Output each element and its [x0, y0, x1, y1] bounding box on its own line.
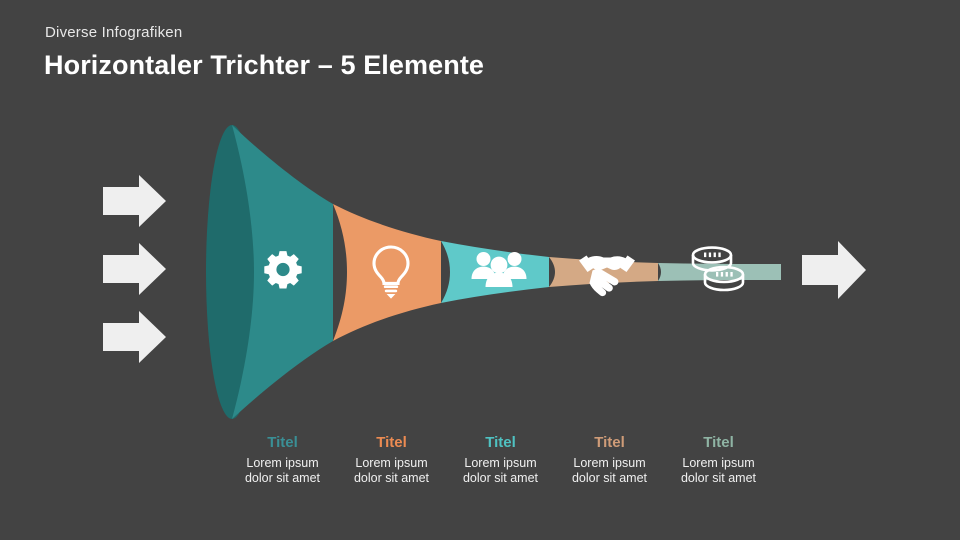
caption-line: dolor sit amet	[664, 471, 773, 486]
slide-canvas: Diverse Infografiken Horizontaler Tricht…	[0, 0, 960, 540]
output-arrow-group	[802, 241, 866, 299]
input-arrow-group	[103, 175, 166, 363]
caption-title: Titel	[446, 433, 555, 453]
caption-row: Titel Lorem ipsum dolor sit amet Titel L…	[228, 433, 773, 486]
caption-line: Lorem ipsum	[664, 456, 773, 471]
caption-item: Titel Lorem ipsum dolor sit amet	[228, 433, 337, 486]
caption-title: Titel	[555, 433, 664, 453]
input-arrow[interactable]	[103, 311, 166, 363]
gear-icon	[264, 251, 301, 288]
caption-line: Lorem ipsum	[555, 456, 664, 471]
caption-line: Lorem ipsum	[446, 456, 555, 471]
caption-line: Lorem ipsum	[337, 456, 446, 471]
caption-line: dolor sit amet	[555, 471, 664, 486]
caption-item: Titel Lorem ipsum dolor sit amet	[664, 433, 773, 486]
coins-icon	[693, 248, 743, 290]
caption-line: dolor sit amet	[446, 471, 555, 486]
caption-item: Titel Lorem ipsum dolor sit amet	[446, 433, 555, 486]
caption-item: Titel Lorem ipsum dolor sit amet	[337, 433, 446, 486]
caption-body: Lorem ipsum dolor sit amet	[228, 456, 337, 486]
caption-body: Lorem ipsum dolor sit amet	[337, 456, 446, 486]
caption-body: Lorem ipsum dolor sit amet	[446, 456, 555, 486]
caption-item: Titel Lorem ipsum dolor sit amet	[555, 433, 664, 486]
output-arrow[interactable]	[802, 241, 866, 299]
caption-body: Lorem ipsum dolor sit amet	[555, 456, 664, 486]
caption-line: Lorem ipsum	[228, 456, 337, 471]
funnel-segment-5[interactable]	[658, 263, 781, 281]
caption-title: Titel	[337, 433, 446, 453]
caption-line: dolor sit amet	[228, 471, 337, 486]
input-arrow[interactable]	[103, 243, 166, 295]
caption-title: Titel	[664, 433, 773, 453]
caption-title: Titel	[228, 433, 337, 453]
caption-line: dolor sit amet	[337, 471, 446, 486]
funnel-segment-2[interactable]	[333, 204, 441, 341]
input-arrow[interactable]	[103, 175, 166, 227]
caption-body: Lorem ipsum dolor sit amet	[664, 456, 773, 486]
